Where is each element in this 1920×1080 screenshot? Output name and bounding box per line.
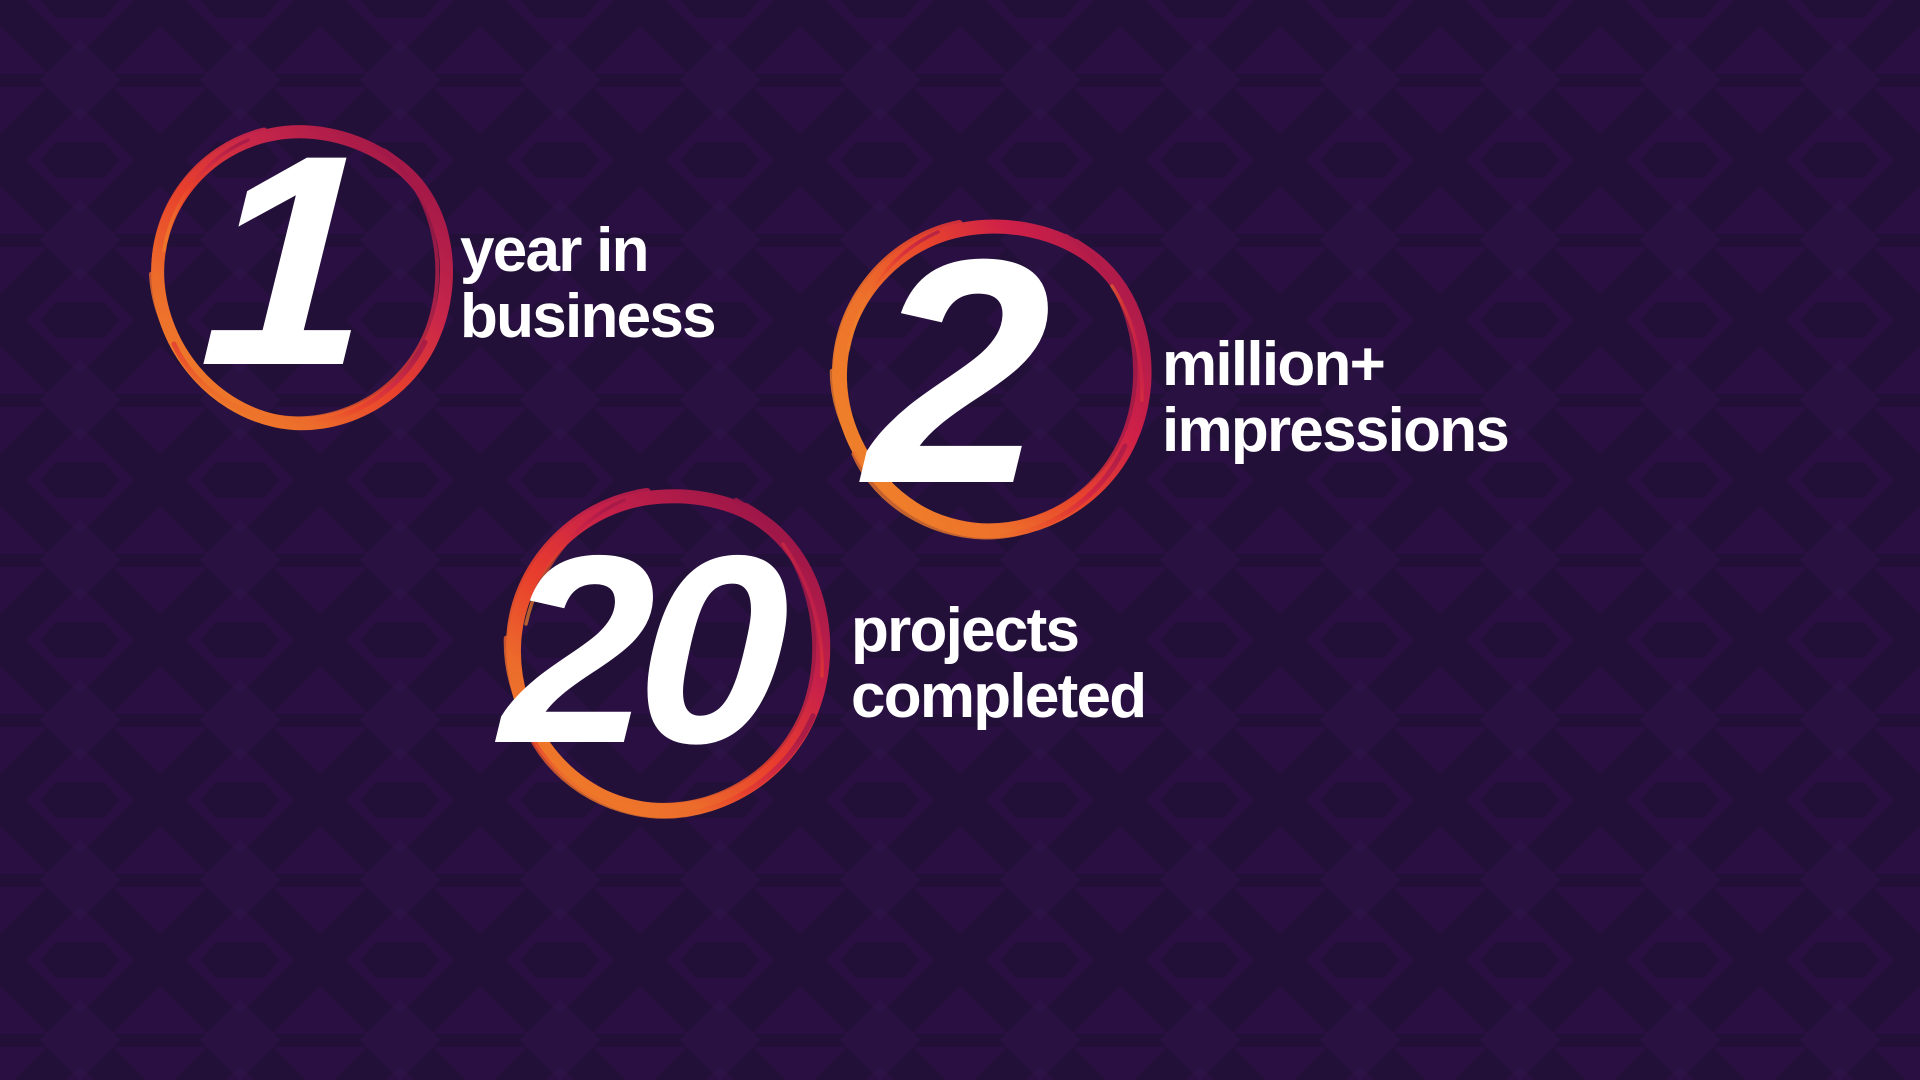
stat-projects-completed: 20 projects completed (488, 474, 1288, 842)
stat-label-1-line-2: business (460, 284, 715, 350)
stat-label-2: million+ impressions (1162, 332, 1508, 465)
stat-label-2-line-2: impressions (1162, 398, 1508, 464)
infographic-canvas: 1 year in business (0, 0, 1920, 1080)
stat-years-in-business: 1 year in business (128, 112, 828, 452)
stat-number-3: 20 (498, 526, 780, 773)
stat-label-1-line-1: year in (460, 218, 715, 284)
stat-label-3-line-1: projects (851, 598, 1145, 664)
stat-label-2-line-1: million+ (1162, 332, 1508, 398)
stat-number-1: 1 (197, 122, 362, 398)
stat-label-3-line-2: completed (851, 664, 1145, 730)
stat-label-1: year in business (460, 218, 715, 351)
stat-label-3: projects completed (851, 598, 1145, 731)
